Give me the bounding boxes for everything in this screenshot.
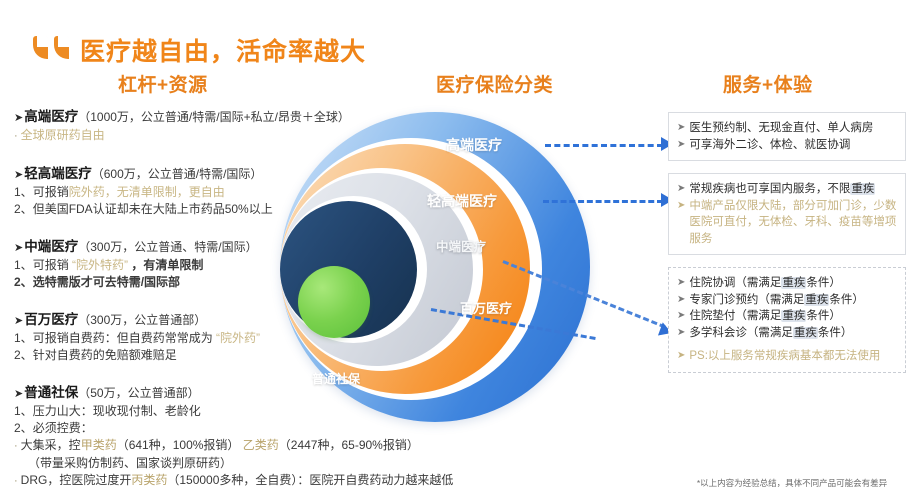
arrow-bullet-icon: ➤: [677, 308, 685, 325]
highlight-zhongji: 重疾: [781, 277, 806, 289]
service-item: ➤住院垫付（需满足重疾条件）: [677, 308, 898, 325]
connector-dashed-qinggaoduan: [543, 200, 663, 203]
tier-paren: （300万，公立普通部）: [78, 313, 206, 327]
right-column-title: 服务+体验: [723, 70, 813, 97]
tier-paren: （1000万，公立普通/特需/国际+私立/昂贵＋全球）: [78, 110, 350, 124]
service-item: ➤可享海外二诊、体检、就医协调: [677, 137, 898, 154]
arrow-bullet-icon: ➤: [677, 325, 685, 342]
arrow-bullet-icon: ➤: [677, 120, 685, 137]
service-item: ➤常规疾病也可享国内服务，不限重疾: [677, 181, 898, 198]
tier-name: 高端医疗: [24, 109, 78, 124]
tier-name: 中端医疗: [24, 239, 78, 254]
service-item: ➤住院协调（需满足重疾条件）: [677, 275, 898, 292]
tier-item-detail: （带量采购仿制药、国家谈判原研药）: [14, 455, 434, 472]
ring-label-zhongduan: 中端医疗: [436, 236, 486, 255]
service-box-1: ➤医生预约制、无现金直付、单人病房 ➤可享海外二诊、体检、就医协调: [668, 112, 906, 161]
tier-name: 普通社保: [24, 385, 78, 400]
arrow-bullet-icon: ➤: [677, 198, 685, 215]
highlight-zhongji: 重疾: [850, 183, 875, 195]
right-column: ➤医生预约制、无现金直付、单人病房 ➤可享海外二诊、体检、就医协调 ➤常规疾病也…: [668, 112, 906, 385]
ring-label-putongshebao: 普通社保: [312, 370, 360, 387]
highlight-zhongji: 重疾: [781, 310, 806, 322]
arrow-bullet-icon: ➤: [677, 275, 685, 292]
arrow-bullet-icon: ➤: [14, 242, 23, 254]
highlight-zhongji: 重疾: [793, 327, 818, 339]
tier-name: 百万医疗: [24, 312, 78, 327]
center-column-title: 医疗保险分类: [436, 70, 553, 97]
ring-label-qinggaoduan: 轻高端医疗: [427, 191, 497, 211]
ring-label-gaoduan: 高端医疗: [446, 135, 502, 155]
arrow-bullet-icon: ➤: [14, 112, 23, 124]
tier-item-detail: ·DRG，控医院过度开丙类药（150000多种，全自费）：医院开自费药动力越来越…: [14, 472, 434, 490]
service-box-3: ➤住院协调（需满足重疾条件） ➤专家门诊预约（需满足重疾条件） ➤住院垫付（需满…: [668, 267, 906, 373]
tier-name: 轻高端医疗: [24, 166, 92, 181]
dot-bullet-icon: ·: [14, 440, 18, 452]
infographic-root: 医疗越自由，活命率越大 杠杆+资源 医疗保险分类 服务+体验 ➤高端医疗（100…: [0, 0, 914, 500]
tier-head: ➤高端医疗（1000万，公立普通/特需/国际+私立/昂贵＋全球）: [14, 108, 434, 127]
tier-item: 2、必须控费：: [14, 420, 434, 437]
service-box-2: ➤常规疾病也可享国内服务，不限重疾 ➤中端产品仅限大陆，部分可加门诊，少数医院可…: [668, 173, 906, 255]
service-item: ➤专家门诊预约（需满足重疾条件）: [677, 292, 898, 309]
arrow-bullet-icon: ➤: [677, 181, 685, 198]
concentric-rings-diagram: 高端医疗 轻高端医疗 中端医疗 百万医疗 普通社保: [398, 108, 698, 438]
service-item: ➤中端产品仅限大陆，部分可加门诊，少数医院可直付，无体检、牙科、疫苗等增项服务: [677, 198, 898, 248]
tier-paren: （300万，公立普通、特需/国际）: [78, 240, 257, 254]
connector-dashed-gaoduan: [545, 144, 663, 147]
ring-label-baiwan: 百万医疗: [460, 298, 512, 317]
header: 医疗越自由，活命率越大: [0, 14, 914, 58]
quote-mark-icon: [33, 36, 73, 60]
dot-bullet-icon: ·: [14, 130, 18, 142]
footnote: *以上内容为经验总结，具体不同产品可能会有差异: [676, 477, 908, 489]
tier-item-detail: ·大集采，控甲类药（641种，100%报销） 乙类药（2447种，65-90%报…: [14, 437, 434, 455]
service-note: ➤PS:以上服务常规疾病基本都无法使用: [677, 348, 898, 365]
service-item: ➤多学科会诊（需满足重疾条件）: [677, 325, 898, 342]
service-item: ➤医生预约制、无现金直付、单人病房: [677, 120, 898, 137]
arrow-bullet-icon: ➤: [677, 348, 685, 365]
arrow-bullet-icon: ➤: [14, 315, 23, 327]
arrow-bullet-icon: ➤: [677, 292, 685, 309]
dot-bullet-icon: ·: [14, 475, 18, 487]
arrow-bullet-icon: ➤: [677, 137, 685, 154]
arrow-bullet-icon: ➤: [14, 169, 23, 181]
tier-paren: （600万，公立普通/特需/国际）: [92, 167, 263, 181]
highlight-zhongji: 重疾: [804, 294, 829, 306]
left-column-title: 杠杆+资源: [118, 70, 208, 97]
ring-putongshebao: [298, 266, 370, 338]
page-title: 医疗越自由，活命率越大: [80, 32, 366, 68]
arrow-bullet-icon: ➤: [14, 388, 23, 400]
tier-paren: （50万，公立普通部）: [78, 386, 199, 400]
